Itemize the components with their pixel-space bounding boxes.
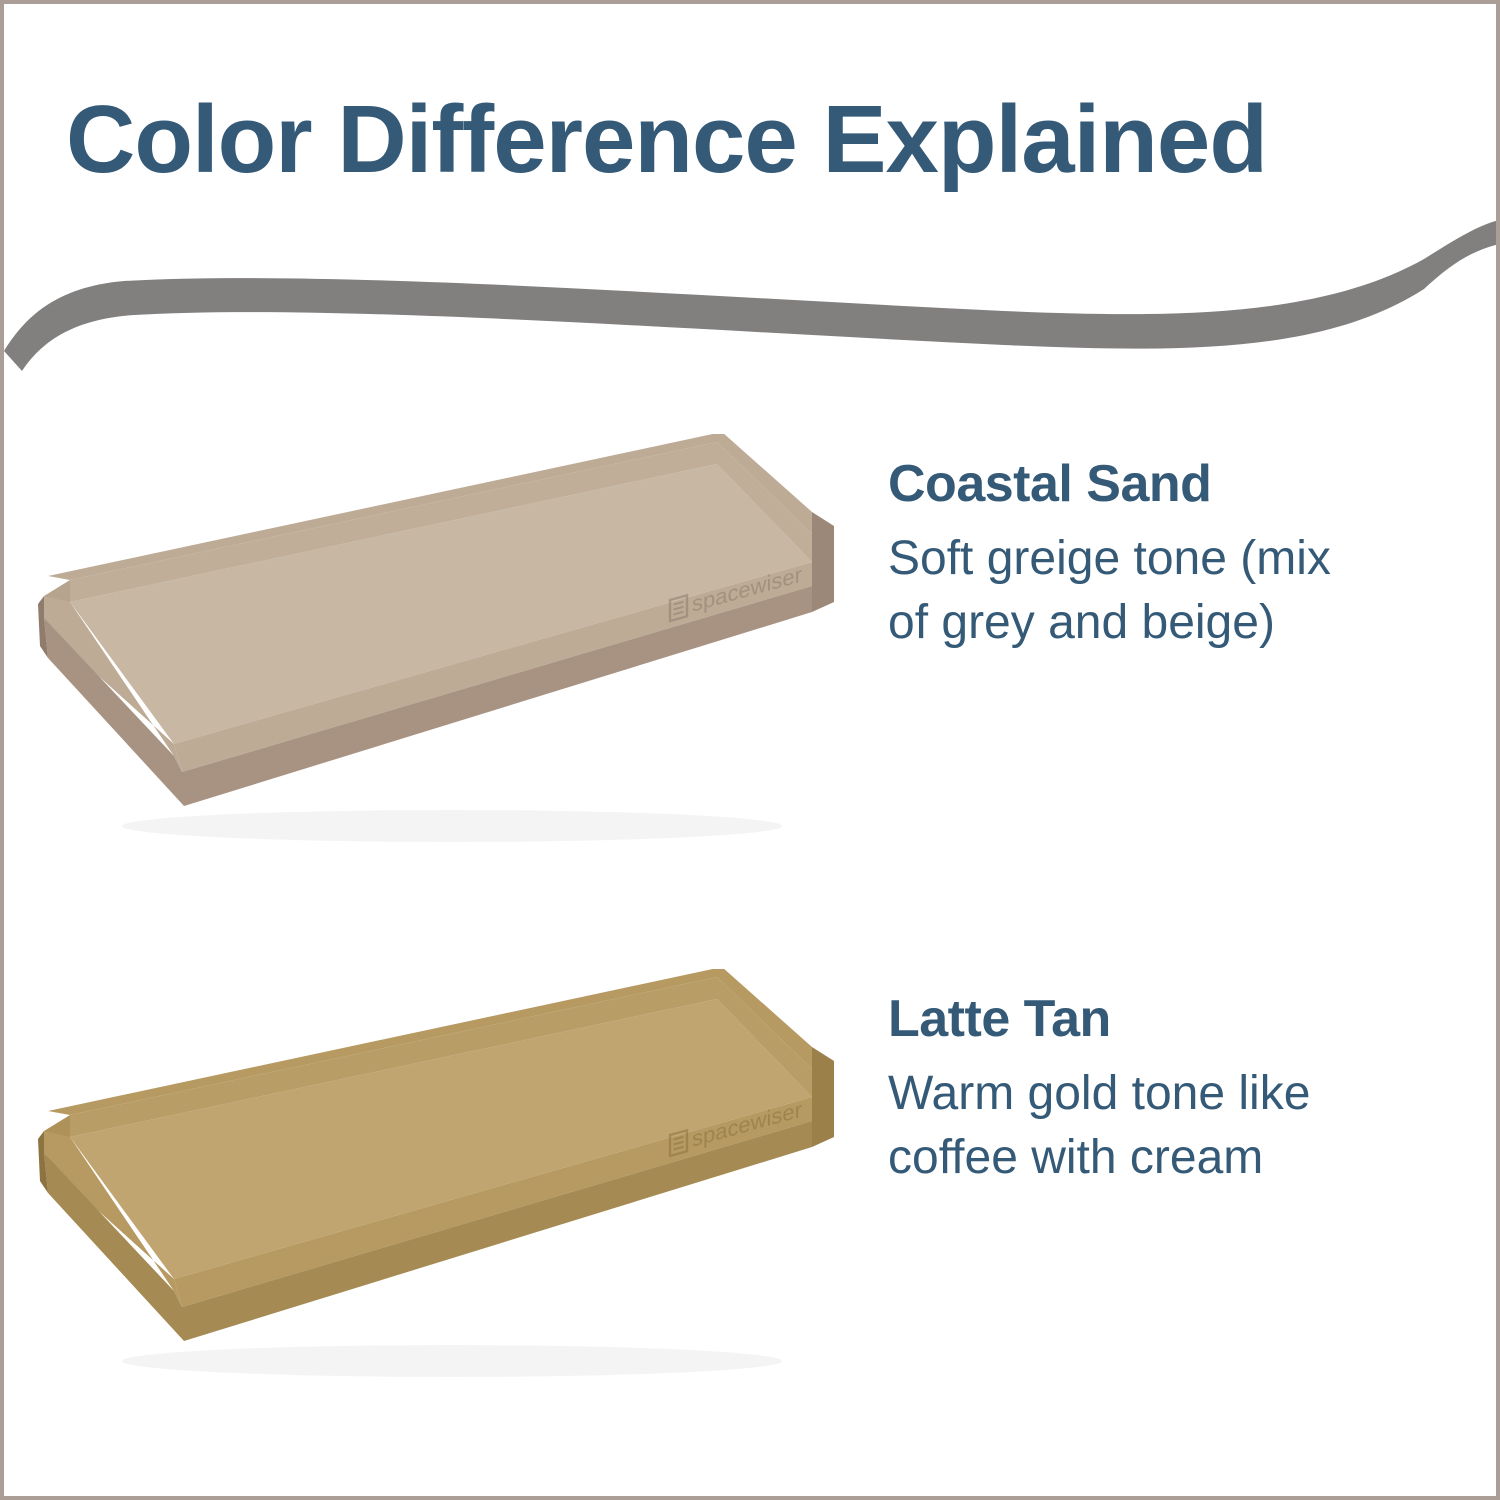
- variant-name-coastal-sand: Coastal Sand: [888, 456, 1368, 513]
- tray-shadow: [122, 810, 782, 842]
- variant-text-coastal-sand: Coastal Sand Soft greige tone (mix of gr…: [888, 456, 1368, 654]
- variant-description-coastal-sand: Soft greige tone (mix of grey and beige): [888, 527, 1368, 654]
- decorative-swoosh: [4, 219, 1500, 379]
- infographic-page: Color Difference Explained: [0, 0, 1500, 1500]
- product-image-coastal-sand: spacewiser: [22, 434, 852, 864]
- variant-row-coastal-sand: spacewiser Coastal Sand Soft greige tone…: [4, 434, 1500, 864]
- variant-description-latte-tan: Warm gold tone like coffee with cream: [888, 1062, 1368, 1189]
- tray-shadow: [122, 1345, 782, 1377]
- variant-text-latte-tan: Latte Tan Warm gold tone like coffee wit…: [888, 991, 1368, 1189]
- variant-row-latte-tan: spacewiser Latte Tan Warm gold tone like…: [4, 969, 1500, 1399]
- page-title: Color Difference Explained: [66, 90, 1406, 191]
- tray-outer-right-wall: [812, 512, 834, 612]
- tray-illustration: spacewiser: [22, 969, 852, 1399]
- variant-name-latte-tan: Latte Tan: [888, 991, 1368, 1048]
- tray-illustration: spacewiser: [22, 434, 852, 864]
- tray-outer-right-wall: [812, 1047, 834, 1147]
- product-image-latte-tan: spacewiser: [22, 969, 852, 1399]
